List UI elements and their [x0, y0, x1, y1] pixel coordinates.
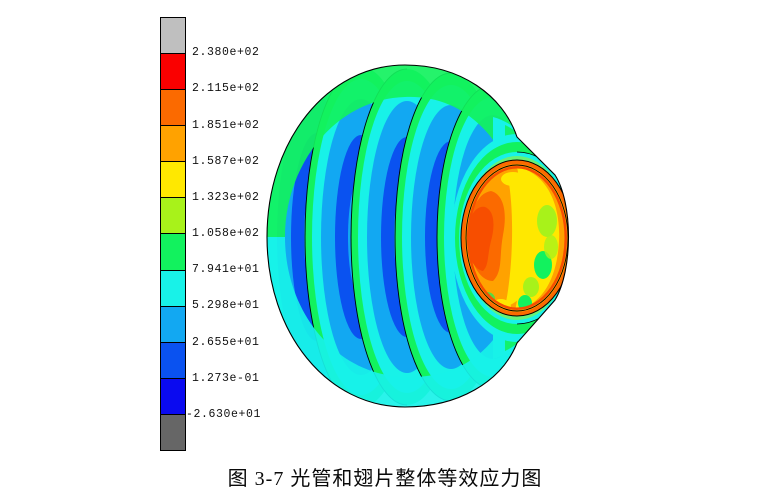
colorbar-label: 1.587e+02: [192, 156, 260, 168]
colorbar-swatch-light-blue: [161, 307, 185, 343]
colorbar-label: 1.851e+02: [192, 120, 260, 132]
colorbar-swatch-cyan: [161, 271, 185, 307]
colorbar-label: 1.273e-01: [192, 373, 260, 385]
colorbar-swatch-green: [161, 234, 185, 270]
colorbar-label: 2.655e+01: [192, 337, 260, 349]
colorbar-swatch-yellow: [161, 162, 185, 198]
colorbar-swatch-deep-blue: [161, 379, 185, 415]
colorbar-swatch-under-range-grey: [161, 415, 185, 450]
colorbar-label: 1.058e+02: [192, 228, 260, 240]
colorbar-label: 2.380e+02: [192, 47, 260, 59]
colorbar-swatch-blue: [161, 343, 185, 379]
colorbar-label: -2.630e+01: [186, 409, 261, 421]
figure-caption: 图 3-7 光管和翅片整体等效应力图: [0, 462, 770, 491]
colorbar-swatch-over-range-grey: [161, 18, 185, 54]
colorbar-label: 2.115e+02: [192, 83, 260, 95]
colorbar: [160, 17, 186, 451]
finned-tube-stress-contour: [255, 55, 615, 415]
colorbar-swatch-orange-red: [161, 90, 185, 126]
colorbar-label: 1.323e+02: [192, 192, 260, 204]
colorbar-label: 7.941e+01: [192, 264, 260, 276]
colorbar-swatch-red: [161, 54, 185, 90]
colorbar-swatch-yellow-green: [161, 198, 185, 234]
colorbar-label: 5.298e+01: [192, 300, 260, 312]
colorbar-swatch-orange: [161, 126, 185, 162]
